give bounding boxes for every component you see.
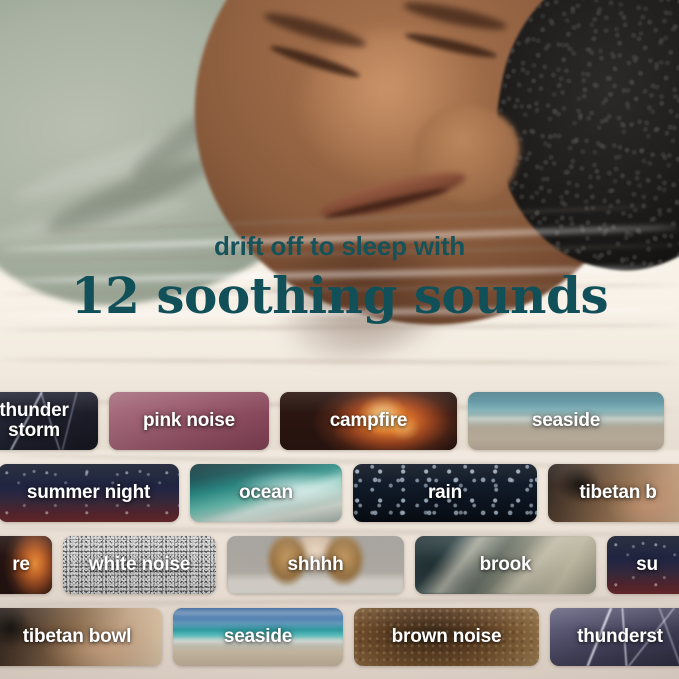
sound-chip-label: thunderst: [550, 608, 679, 666]
sound-chip[interactable]: white noise: [63, 536, 216, 594]
sound-chip-label: tibetan bowl: [0, 608, 162, 666]
sound-chip[interactable]: shhhh: [227, 536, 404, 594]
sound-chip-label: campfire: [280, 392, 457, 450]
sound-chip-row: summer nightoceanraintibetan b: [0, 458, 679, 528]
sound-chip-label: white noise: [63, 536, 216, 594]
sound-chip[interactable]: summer night: [0, 464, 179, 522]
sound-chip-label: pink noise: [109, 392, 269, 450]
sound-chip-label: re: [0, 536, 52, 594]
sound-chip-row: rewhite noiseshhhhbrooksu: [0, 530, 679, 600]
sound-chip[interactable]: pink noise: [109, 392, 269, 450]
sound-chip-label: seaside: [468, 392, 664, 450]
sound-chip-label: ocean: [190, 464, 342, 522]
sleep-sounds-promo-card: drift off to sleep with 12 soothing soun…: [0, 0, 679, 679]
sound-chip[interactable]: campfire: [280, 392, 457, 450]
sound-chip-label: seaside: [173, 608, 343, 666]
sound-chip[interactable]: re: [0, 536, 52, 594]
sound-chip-label: thunder storm: [0, 392, 98, 450]
sound-chip[interactable]: seaside: [173, 608, 343, 666]
page-title: 12 soothing sounds: [0, 268, 679, 324]
sound-chip-row: thunder stormpink noisecampfireseaside: [0, 386, 679, 456]
sound-chip[interactable]: thunderst: [550, 608, 679, 666]
sound-chip-label: su: [607, 536, 679, 594]
sound-chip-label: brown noise: [354, 608, 539, 666]
sound-chip[interactable]: tibetan bowl: [0, 608, 162, 666]
headline-block: drift off to sleep with 12 soothing soun…: [0, 232, 679, 324]
sound-chip[interactable]: brook: [415, 536, 596, 594]
sound-chip-label: tibetan b: [548, 464, 679, 522]
sound-chip[interactable]: thunder storm: [0, 392, 98, 450]
sound-chip[interactable]: rain: [353, 464, 537, 522]
sound-chip-label: brook: [415, 536, 596, 594]
sound-chip[interactable]: su: [607, 536, 679, 594]
sound-chip[interactable]: tibetan b: [548, 464, 679, 522]
sound-chip-label: shhhh: [227, 536, 404, 594]
sound-chip[interactable]: seaside: [468, 392, 664, 450]
sound-chip[interactable]: brown noise: [354, 608, 539, 666]
sound-chip-row: tibetan bowlseasidebrown noisethunderst: [0, 602, 679, 672]
sound-chip-grid: thunder stormpink noisecampfireseasidesu…: [0, 386, 679, 674]
headline-kicker: drift off to sleep with: [0, 232, 679, 262]
sound-chip-label: rain: [353, 464, 537, 522]
sound-chip-label: summer night: [0, 464, 179, 522]
sound-chip[interactable]: ocean: [190, 464, 342, 522]
